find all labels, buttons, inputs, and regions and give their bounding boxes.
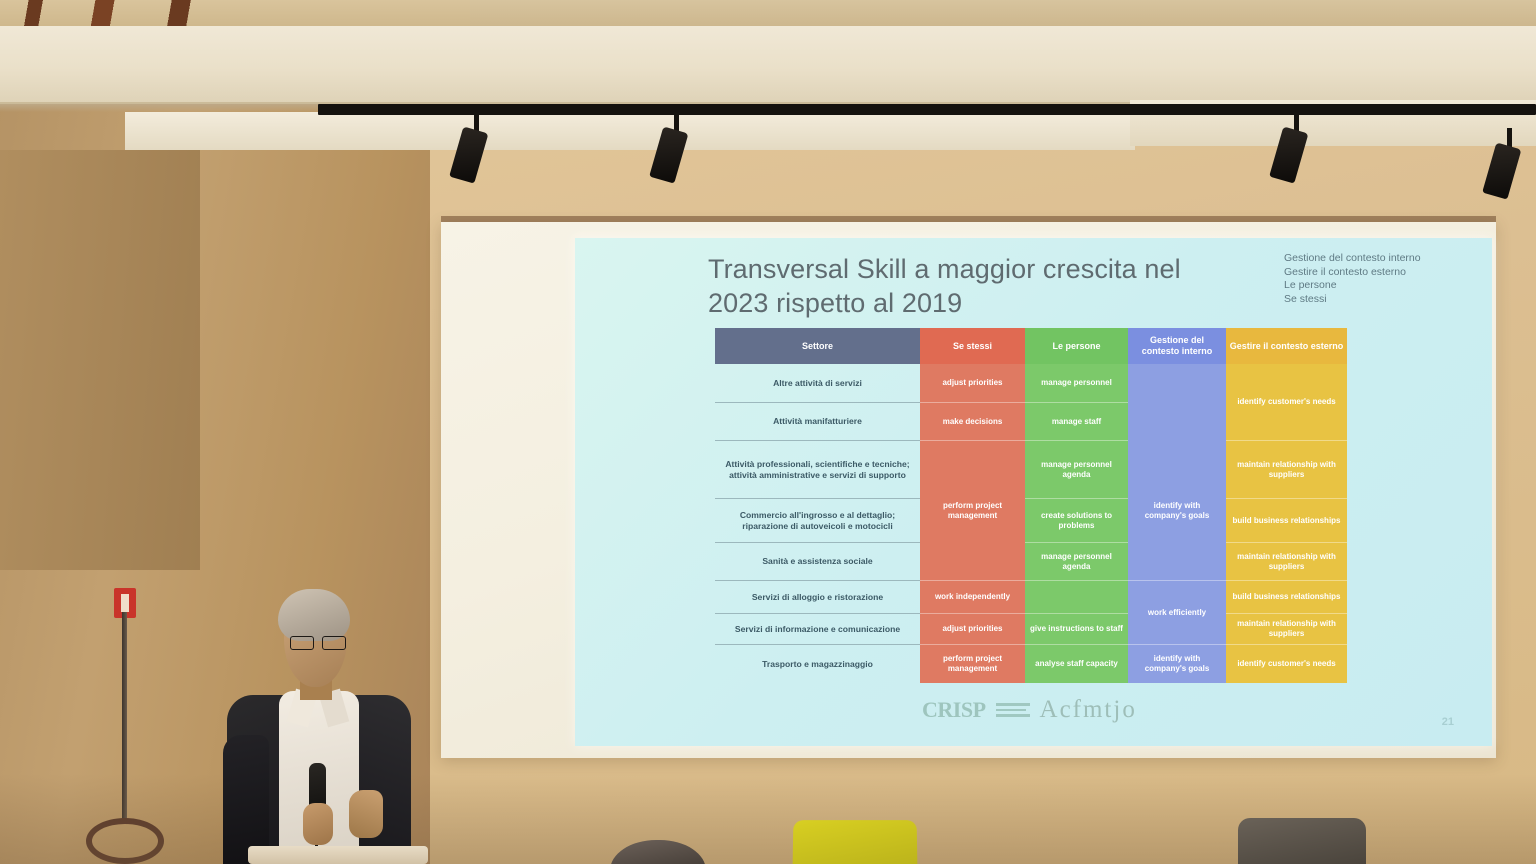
cell-contesto-interno: identify with company's goals xyxy=(1128,645,1226,683)
column-header-se-stessi: Se stessi xyxy=(920,328,1025,364)
cell-contesto-interno-merged: work efficiently xyxy=(1128,581,1226,645)
cell-se-stessi: perform project management xyxy=(920,645,1025,683)
acfm-logo: Acfmtjo xyxy=(1040,696,1137,724)
table-row: Attività professionali, scientifiche e t… xyxy=(715,441,920,499)
column-header-le-persone: Le persone xyxy=(1025,328,1128,364)
column-header-contesto-esterno: Gestire il contesto esterno xyxy=(1226,328,1347,364)
cell-contesto-esterno: identify customer's needs xyxy=(1226,645,1347,683)
crisp-bars-icon xyxy=(996,703,1030,717)
table-row: Trasporto e magazzinaggio xyxy=(715,645,920,683)
table-row: Servizi di informazione e comunicazione xyxy=(715,614,920,645)
legend-item-2: Le persone xyxy=(1284,279,1474,293)
chair-dark xyxy=(1238,818,1366,864)
column-header-contesto-interno: Gestione del contesto interno xyxy=(1128,328,1226,364)
wall-panel-left xyxy=(0,150,200,570)
cell-se-stessi: adjust priorities xyxy=(920,614,1025,645)
table-header-row: Settore Se stessi Le persone Gestione de… xyxy=(715,328,1347,364)
column-se-stessi: adjust priorities make decisions perform… xyxy=(920,364,1025,683)
hand-right xyxy=(349,790,383,838)
cell-se-stessi: work independently xyxy=(920,581,1025,614)
cell-le-persone-empty xyxy=(1025,581,1128,614)
table-row: Commercio all'ingrosso e al dettaglio; r… xyxy=(715,499,920,543)
arm-left xyxy=(223,735,269,864)
chair-yellow xyxy=(793,820,918,864)
ceiling-beam xyxy=(0,26,1536,104)
glasses-icon xyxy=(290,636,346,648)
table-row: Sanità e assistenza sociale xyxy=(715,543,920,581)
cell-le-persone: analyse staff capacity xyxy=(1025,645,1128,683)
cell-contesto-esterno: maintain relationship with suppliers xyxy=(1226,543,1347,581)
cell-le-persone: manage personnel agenda xyxy=(1025,441,1128,499)
cell-se-stessi: make decisions xyxy=(920,403,1025,441)
cell-le-persone: manage personnel xyxy=(1025,364,1128,403)
hair xyxy=(278,589,350,641)
legend-item-3: Se stessi xyxy=(1284,293,1474,307)
table-row: Altre attività di servizi xyxy=(715,364,920,403)
column-header-settore: Settore xyxy=(715,328,920,364)
slide-title: Transversal Skill a maggior crescita nel… xyxy=(708,252,1188,320)
table-row: Servizi di alloggio e ristorazione xyxy=(715,581,920,614)
legend-item-0: Gestione del contesto interno xyxy=(1284,252,1474,266)
cell-se-stessi-merged: perform project management xyxy=(920,441,1025,581)
presenter xyxy=(205,585,445,864)
cell-contesto-esterno: maintain relationship with suppliers xyxy=(1226,441,1347,499)
column-settore: Altre attività di servizi Attività manif… xyxy=(715,364,920,683)
slide-legend: Gestione del contesto interno Gestire il… xyxy=(1284,252,1474,306)
table-edge xyxy=(248,846,428,864)
skills-table: Settore Se stessi Le persone Gestione de… xyxy=(715,328,1347,683)
cell-le-persone: give instructions to staff xyxy=(1025,614,1128,645)
table-body: Altre attività di servizi Attività manif… xyxy=(715,364,1347,683)
cell-le-persone: manage staff xyxy=(1025,403,1128,441)
cell-le-persone: create solutions to problems xyxy=(1025,499,1128,543)
column-contesto-interno: identify with company's goals work effic… xyxy=(1128,364,1226,683)
cell-contesto-esterno: maintain relationship with suppliers xyxy=(1226,614,1347,645)
lighting-track xyxy=(318,104,1536,115)
slide-footer-logos: CRISP Acfmtjo xyxy=(922,693,1162,727)
soffit-panel xyxy=(125,112,1135,150)
column-le-persone: manage personnel manage staff manage per… xyxy=(1025,364,1128,683)
cell-se-stessi: adjust priorities xyxy=(920,364,1025,403)
column-contesto-esterno: identify customer's needs maintain relat… xyxy=(1226,364,1347,683)
cell-contesto-esterno: build business relationships xyxy=(1226,499,1347,543)
legend-item-1: Gestire il contesto esterno xyxy=(1284,266,1474,280)
cell-contesto-esterno-merged: identify customer's needs xyxy=(1226,364,1347,441)
presentation-slide: Transversal Skill a maggior crescita nel… xyxy=(575,238,1492,746)
cell-contesto-interno-merged: identify with company's goals xyxy=(1128,441,1226,581)
slide-page-number: 21 xyxy=(1442,716,1454,728)
crisp-logo: CRISP xyxy=(922,697,986,723)
table-row: Attività manifatturiere xyxy=(715,403,920,441)
cell-contesto-interno-empty xyxy=(1128,364,1226,441)
cell-le-persone: manage personnel agenda xyxy=(1025,543,1128,581)
hand-holding-microphone xyxy=(303,803,333,845)
cell-contesto-esterno: build business relationships xyxy=(1226,581,1347,614)
